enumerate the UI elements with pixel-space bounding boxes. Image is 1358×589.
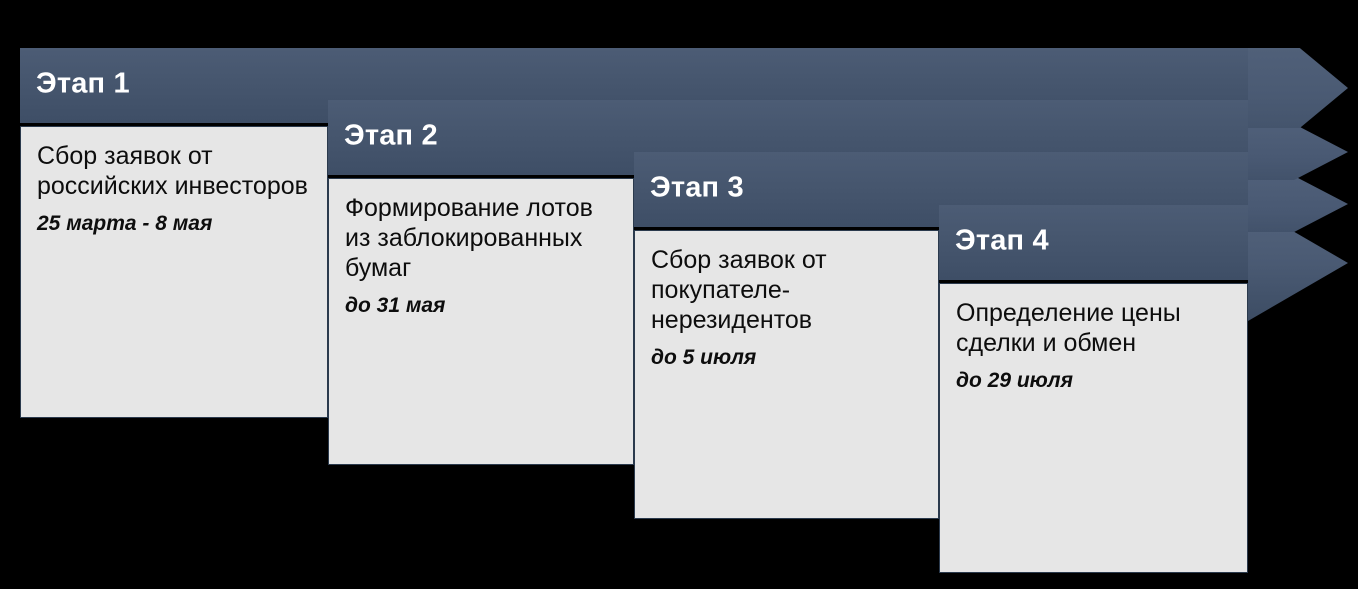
stage-description-4: Определение цены сделки и обмен xyxy=(956,298,1231,358)
stage-description-2: Формирование лотов из заблокированных бу… xyxy=(345,193,617,283)
stage-card-1[interactable]: Сбор заявок от российских инвесторов 25 … xyxy=(20,126,328,418)
stage-date-1: 25 марта - 8 мая xyxy=(37,211,311,236)
stage-title-3: Этап 3 xyxy=(650,171,744,204)
stage-title-1: Этап 1 xyxy=(36,67,130,100)
stage-date-2: до 31 мая xyxy=(345,293,617,318)
stage-card-2[interactable]: Формирование лотов из заблокированных бу… xyxy=(328,178,634,465)
diagram-canvas: Этап 1 Сбор заявок от российских инвесто… xyxy=(0,0,1358,589)
stage-title-2: Этап 2 xyxy=(344,119,438,152)
stage-header-4[interactable]: Этап 4 xyxy=(939,205,1248,283)
stage-description-1: Сбор заявок от российских инвесторов xyxy=(37,141,311,201)
stage-card-4[interactable]: Определение цены сделки и обмен до 29 ию… xyxy=(939,283,1248,573)
stage-title-4: Этап 4 xyxy=(955,224,1049,257)
stage-description-3: Сбор заявок от покупателе-нерезидентов xyxy=(651,245,922,335)
stage-date-3: до 5 июля xyxy=(651,345,922,370)
stage-card-3[interactable]: Сбор заявок от покупателе-нерезидентов д… xyxy=(634,230,939,519)
stage-date-4: до 29 июля xyxy=(956,368,1231,393)
